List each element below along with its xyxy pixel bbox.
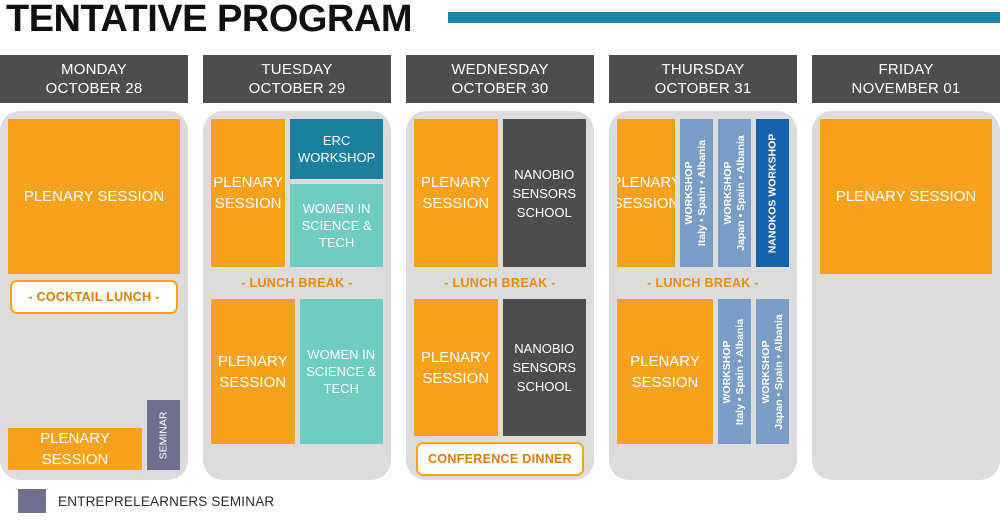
session-block-label: PLENARY SESSION — [617, 351, 713, 393]
day-card-friday: PLENARY SESSION — [812, 111, 1000, 480]
break-lunch-break: - LUNCH BREAK - — [414, 267, 586, 299]
session-block-label: NANOBIO SENSORS SCHOOL — [503, 339, 587, 396]
title-bar: TENTATIVE PROGRAM — [0, 0, 1000, 48]
page-title: TENTATIVE PROGRAM — [6, 0, 412, 42]
session-block-label: SEMINAR — [157, 411, 170, 459]
session-block-label: PLENARY SESSION — [211, 172, 285, 214]
session-block-nanobio-sensors-school[interactable]: NANOBIO SENSORS SCHOOL — [503, 119, 587, 267]
session-block-label: PLENARY SESSION — [414, 172, 498, 214]
day-column-wednesday: WEDNESDAYOCTOBER 30PLENARY SESSIONNANOBI… — [406, 55, 594, 480]
afternoon-slot-thursday: PLENARY SESSIONWORKSHOPItaly • Spain • A… — [617, 299, 789, 444]
day-card-thursday: PLENARY SESSIONWORKSHOPItaly • Spain • A… — [609, 111, 797, 480]
day-header-tuesday: TUESDAYOCTOBER 29 — [203, 55, 391, 103]
session-block-label-line2: Japan • Spain • Albania — [735, 135, 748, 251]
session-block-nanokos-workshop[interactable]: NANOKOS WORKSHOP — [756, 119, 789, 267]
session-block-plenary-session[interactable]: PLENARY SESSION — [617, 299, 713, 444]
session-block-label: PLENARY SESSION — [8, 428, 142, 470]
afternoon-slot-wednesday: PLENARY SESSIONNANOBIO SENSORS SCHOOL — [414, 299, 586, 436]
session-block-plenary-session[interactable]: PLENARY SESSION — [8, 119, 180, 274]
legend-label: ENTREPRELEARNERS SEMINAR — [58, 494, 274, 509]
day-header-thursday: THURSDAYOCTOBER 31 — [609, 55, 797, 103]
session-block-label: NANOKOS WORKSHOP — [766, 133, 779, 253]
break-lunch-break: - LUNCH BREAK - — [617, 267, 789, 299]
day-weekday: TUESDAY — [261, 60, 332, 79]
session-block-workshop-japan-spain-albania[interactable]: WORKSHOPJapan • Spain • Albania — [718, 119, 751, 267]
morning-parallel-stack: ERC WORKSHOPWOMEN IN SCIENCE & TECH — [290, 119, 383, 267]
day-card-wednesday: PLENARY SESSIONNANOBIO SENSORS SCHOOL- L… — [406, 111, 594, 480]
session-block-plenary-session[interactable]: PLENARY SESSION — [414, 299, 498, 436]
morning-slot-monday: PLENARY SESSION — [8, 119, 180, 274]
session-block-label: PLENARY SESSION — [414, 347, 498, 389]
session-block-plenary-session[interactable]: PLENARY SESSION — [211, 299, 295, 444]
day-weekday: THURSDAY — [662, 60, 745, 79]
session-block-plenary-session[interactable]: PLENARY SESSION — [414, 119, 498, 267]
footer-conference-dinner[interactable]: CONFERENCE DINNER — [416, 442, 584, 476]
morning-slot-thursday: PLENARY SESSIONWORKSHOPItaly • Spain • A… — [617, 119, 789, 267]
session-block-seminar[interactable]: SEMINAR — [147, 400, 180, 470]
session-block-label: PLENARY SESSION — [617, 172, 675, 214]
title-accent-rule — [448, 12, 1000, 23]
day-date: OCTOBER 30 — [452, 79, 549, 98]
day-column-monday: MONDAYOCTOBER 28PLENARY SESSION- COCKTAI… — [0, 55, 188, 480]
break-cocktail-lunch[interactable]: - COCKTAIL LUNCH - — [10, 280, 178, 314]
session-block-label: PLENARY SESSION — [211, 351, 295, 393]
legend-swatch-seminar — [18, 489, 46, 513]
legend: ENTREPRELEARNERS SEMINAR — [18, 489, 274, 513]
day-header-wednesday: WEDNESDAYOCTOBER 30 — [406, 55, 594, 103]
session-block-plenary-session[interactable]: PLENARY SESSION — [820, 119, 992, 274]
session-block-plenary-session[interactable]: PLENARY SESSION — [617, 119, 675, 267]
session-block-label-line1: WORKSHOP — [684, 140, 697, 246]
day-date: OCTOBER 28 — [46, 79, 143, 98]
session-block-plenary-session[interactable]: PLENARY SESSION — [8, 428, 142, 470]
session-block-workshop-japan-spain-albania[interactable]: WORKSHOPJapan • Spain • Albania — [756, 299, 789, 444]
session-block-label-line2: Japan • Spain • Albania — [773, 314, 786, 430]
session-block-label: WORKSHOPItaly • Spain • Albania — [722, 318, 748, 424]
session-block-label: WORKSHOPJapan • Spain • Albania — [760, 314, 786, 430]
session-block-label-line1: WORKSHOP — [760, 314, 773, 430]
session-block-label: PLENARY SESSION — [836, 186, 976, 207]
session-block-women-in-science-tech[interactable]: WOMEN IN SCIENCE & TECH — [290, 184, 383, 267]
afternoon-slot-tuesday: PLENARY SESSIONWOMEN IN SCIENCE & TECH — [211, 299, 383, 444]
session-block-label-line2: Italy • Spain • Albania — [735, 318, 748, 424]
morning-slot-wednesday: PLENARY SESSIONNANOBIO SENSORS SCHOOL — [414, 119, 586, 267]
session-block-workshop-italy-spain-albania[interactable]: WORKSHOPItaly • Spain • Albania — [718, 299, 751, 444]
session-block-label: WOMEN IN SCIENCE & TECH — [300, 346, 384, 397]
morning-slot-tuesday: PLENARY SESSIONERC WORKSHOPWOMEN IN SCIE… — [211, 119, 383, 267]
session-block-nanobio-sensors-school[interactable]: NANOBIO SENSORS SCHOOL — [503, 299, 587, 436]
session-block-erc-workshop[interactable]: ERC WORKSHOP — [290, 119, 383, 179]
session-block-label: WORKSHOPItaly • Spain • Albania — [684, 140, 710, 246]
day-date: OCTOBER 29 — [249, 79, 346, 98]
session-block-label: WORKSHOPJapan • Spain • Albania — [722, 135, 748, 251]
session-block-label-line2: Italy • Spain • Albania — [697, 140, 710, 246]
day-card-monday: PLENARY SESSION- COCKTAIL LUNCH -PLENARY… — [0, 111, 188, 480]
day-date: NOVEMBER 01 — [852, 79, 961, 98]
session-block-women-in-science-tech[interactable]: WOMEN IN SCIENCE & TECH — [300, 299, 384, 444]
session-block-workshop-italy-spain-albania[interactable]: WORKSHOPItaly • Spain • Albania — [680, 119, 713, 267]
day-weekday: FRIDAY — [878, 60, 933, 79]
session-block-label: NANOBIO SENSORS SCHOOL — [503, 165, 587, 222]
day-date: OCTOBER 31 — [655, 79, 752, 98]
session-block-label-line1: WORKSHOP — [722, 135, 735, 251]
day-weekday: WEDNESDAY — [451, 60, 548, 79]
afternoon-slot-monday: PLENARY SESSIONSEMINAR — [8, 320, 180, 470]
session-block-label: WOMEN IN SCIENCE & TECH — [290, 200, 383, 251]
session-block-label: ERC WORKSHOP — [290, 132, 383, 166]
day-header-monday: MONDAYOCTOBER 28 — [0, 55, 188, 103]
morning-slot-friday: PLENARY SESSION — [820, 119, 992, 274]
session-block-label: PLENARY SESSION — [24, 186, 164, 207]
session-block-plenary-session[interactable]: PLENARY SESSION — [211, 119, 285, 267]
session-block-label-line1: WORKSHOP — [722, 318, 735, 424]
day-column-friday: FRIDAYNOVEMBER 01PLENARY SESSION — [812, 55, 1000, 480]
program-week-grid: MONDAYOCTOBER 28PLENARY SESSION- COCKTAI… — [0, 55, 1000, 480]
day-column-thursday: THURSDAYOCTOBER 31PLENARY SESSIONWORKSHO… — [609, 55, 797, 480]
day-column-tuesday: TUESDAYOCTOBER 29PLENARY SESSIONERC WORK… — [203, 55, 391, 480]
break-lunch-break: - LUNCH BREAK - — [211, 267, 383, 299]
day-weekday: MONDAY — [61, 60, 127, 79]
day-card-tuesday: PLENARY SESSIONERC WORKSHOPWOMEN IN SCIE… — [203, 111, 391, 480]
day-header-friday: FRIDAYNOVEMBER 01 — [812, 55, 1000, 103]
